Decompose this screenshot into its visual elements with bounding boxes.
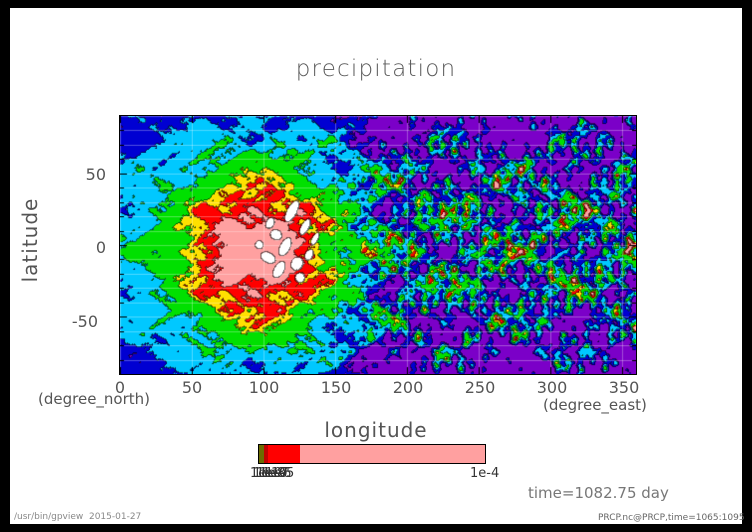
y-unit-label: (degree_north) — [38, 390, 150, 408]
x-tick-50: 50 — [162, 378, 222, 397]
contour-plot[interactable] — [119, 115, 637, 375]
footer-datasource: PRCP.nc@PRCP,time=1065:1095 — [598, 513, 745, 523]
time-annotation: time=1082.75 day — [528, 484, 669, 502]
x-tick-100: 100 — [234, 378, 294, 397]
x-tick-350: 350 — [594, 378, 654, 397]
y-tick-50: 50 — [60, 165, 106, 184]
contour-field — [120, 116, 636, 374]
colorbar-overlapping-labels: 1e-101e-91e-81e-71e-61e-5 — [250, 466, 330, 480]
figure-canvas: precipitation latitude 50 0 -50 0 50 100… — [0, 0, 752, 532]
colorbar-label-1e-5: 1e-5 — [265, 466, 294, 481]
x-axis-label: longitude — [0, 418, 752, 442]
y-tick-neg50: -50 — [52, 312, 98, 331]
x-tick-250: 250 — [450, 378, 510, 397]
colorbar-max-label: 1e-4 — [470, 466, 499, 481]
y-tick-0: 0 — [60, 238, 106, 257]
x-tick-200: 200 — [378, 378, 438, 397]
x-unit-label: (degree_east) — [543, 396, 647, 414]
y-axis-label: latitude — [18, 170, 42, 310]
colorbar-segment-3 — [300, 445, 485, 463]
x-tick-300: 300 — [522, 378, 582, 397]
x-tick-150: 150 — [306, 378, 366, 397]
colorbar-segment-2 — [268, 445, 300, 463]
page-title: precipitation — [0, 56, 752, 82]
footer-command: /usr/bin/gpview 2015-01-27 — [14, 512, 141, 522]
colorbar[interactable] — [258, 444, 486, 464]
